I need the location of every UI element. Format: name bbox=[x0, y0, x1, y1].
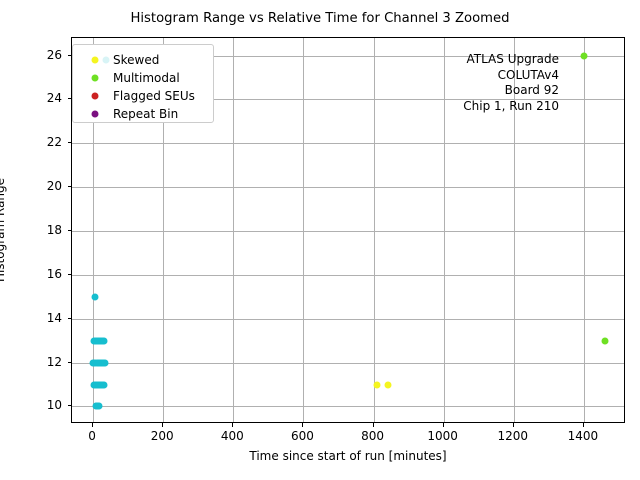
x-tick-mark bbox=[513, 423, 514, 427]
legend-marker-secondary-icon bbox=[103, 56, 110, 63]
x-tick-mark bbox=[302, 423, 303, 427]
legend-item-skewed[interactable]: Skewed bbox=[73, 50, 213, 69]
annotation-line-3: Board 92 bbox=[463, 83, 559, 99]
x-tick-label: 1000 bbox=[427, 429, 458, 443]
x-tick-label: 800 bbox=[361, 429, 384, 443]
data-point bbox=[101, 337, 108, 344]
annotation-line-2: COLUTAv4 bbox=[463, 68, 559, 84]
gridline-vertical bbox=[374, 38, 375, 422]
gridline-vertical bbox=[303, 38, 304, 422]
legend-label: Repeat Bin bbox=[113, 107, 178, 121]
y-tick-mark bbox=[68, 55, 72, 56]
gridline-vertical bbox=[233, 38, 234, 422]
x-tick-label: 1400 bbox=[568, 429, 599, 443]
x-tick-label: 0 bbox=[88, 429, 96, 443]
gridline-horizontal bbox=[72, 275, 624, 276]
y-tick-mark bbox=[68, 318, 72, 319]
x-tick-mark bbox=[443, 423, 444, 427]
chart-figure: Histogram Range vs Relative Time for Cha… bbox=[0, 0, 640, 480]
gridline-horizontal bbox=[72, 363, 624, 364]
y-tick-mark bbox=[68, 98, 72, 99]
x-tick-mark bbox=[373, 423, 374, 427]
data-point bbox=[101, 359, 108, 366]
gridline-horizontal bbox=[72, 187, 624, 188]
chart-title: Histogram Range vs Relative Time for Cha… bbox=[0, 11, 640, 26]
y-tick-label: 18 bbox=[47, 223, 62, 237]
y-tick-mark bbox=[68, 230, 72, 231]
x-tick-label: 200 bbox=[151, 429, 174, 443]
legend-label: Flagged SEUs bbox=[113, 89, 195, 103]
x-tick-label: 1200 bbox=[498, 429, 529, 443]
y-tick-label: 10 bbox=[47, 398, 62, 412]
y-tick-label: 14 bbox=[47, 311, 62, 325]
y-tick-label: 22 bbox=[47, 135, 62, 149]
data-point bbox=[580, 52, 587, 59]
y-tick-mark bbox=[68, 142, 72, 143]
legend-label: Multimodal bbox=[113, 71, 180, 85]
y-tick-mark bbox=[68, 362, 72, 363]
gridline-horizontal bbox=[72, 231, 624, 232]
data-point bbox=[602, 337, 609, 344]
legend-item-flagged-seus[interactable]: Flagged SEUs bbox=[73, 86, 213, 105]
legend-marker-icon bbox=[92, 74, 99, 81]
y-tick-label: 12 bbox=[47, 355, 62, 369]
legend-marker-icon bbox=[92, 110, 99, 117]
x-axis-label: Time since start of run [minutes] bbox=[71, 449, 625, 463]
y-tick-mark bbox=[68, 274, 72, 275]
y-axis-label: Histogram Range bbox=[0, 178, 7, 282]
y-tick-label: 20 bbox=[47, 179, 62, 193]
data-point bbox=[95, 403, 102, 410]
y-tick-mark bbox=[68, 405, 72, 406]
data-point bbox=[374, 381, 381, 388]
y-tick-label: 26 bbox=[47, 48, 62, 62]
gridline-vertical bbox=[444, 38, 445, 422]
legend-label: Skewed bbox=[113, 53, 159, 67]
chart-legend[interactable]: SkewedMultimodalFlagged SEUsRepeat Bin bbox=[72, 44, 214, 123]
gridline-horizontal bbox=[72, 406, 624, 407]
chart-annotation: ATLAS UpgradeCOLUTAv4Board 92Chip 1, Run… bbox=[463, 52, 559, 114]
y-tick-label: 16 bbox=[47, 267, 62, 281]
x-tick-mark bbox=[583, 423, 584, 427]
y-tick-label: 24 bbox=[47, 91, 62, 105]
data-point bbox=[92, 293, 99, 300]
gridline-horizontal bbox=[72, 319, 624, 320]
data-point bbox=[385, 381, 392, 388]
annotation-line-4: Chip 1, Run 210 bbox=[463, 99, 559, 115]
legend-marker-icon bbox=[92, 92, 99, 99]
x-tick-label: 600 bbox=[291, 429, 314, 443]
annotation-line-1: ATLAS Upgrade bbox=[463, 52, 559, 68]
legend-marker-icon bbox=[92, 56, 99, 63]
gridline-vertical bbox=[584, 38, 585, 422]
x-tick-mark bbox=[232, 423, 233, 427]
gridline-horizontal bbox=[72, 143, 624, 144]
x-tick-mark bbox=[92, 423, 93, 427]
x-tick-mark bbox=[162, 423, 163, 427]
y-tick-mark bbox=[68, 186, 72, 187]
data-point bbox=[101, 381, 108, 388]
legend-item-multimodal[interactable]: Multimodal bbox=[73, 68, 213, 87]
x-tick-label: 400 bbox=[221, 429, 244, 443]
legend-item-repeat-bin[interactable]: Repeat Bin bbox=[73, 104, 213, 123]
